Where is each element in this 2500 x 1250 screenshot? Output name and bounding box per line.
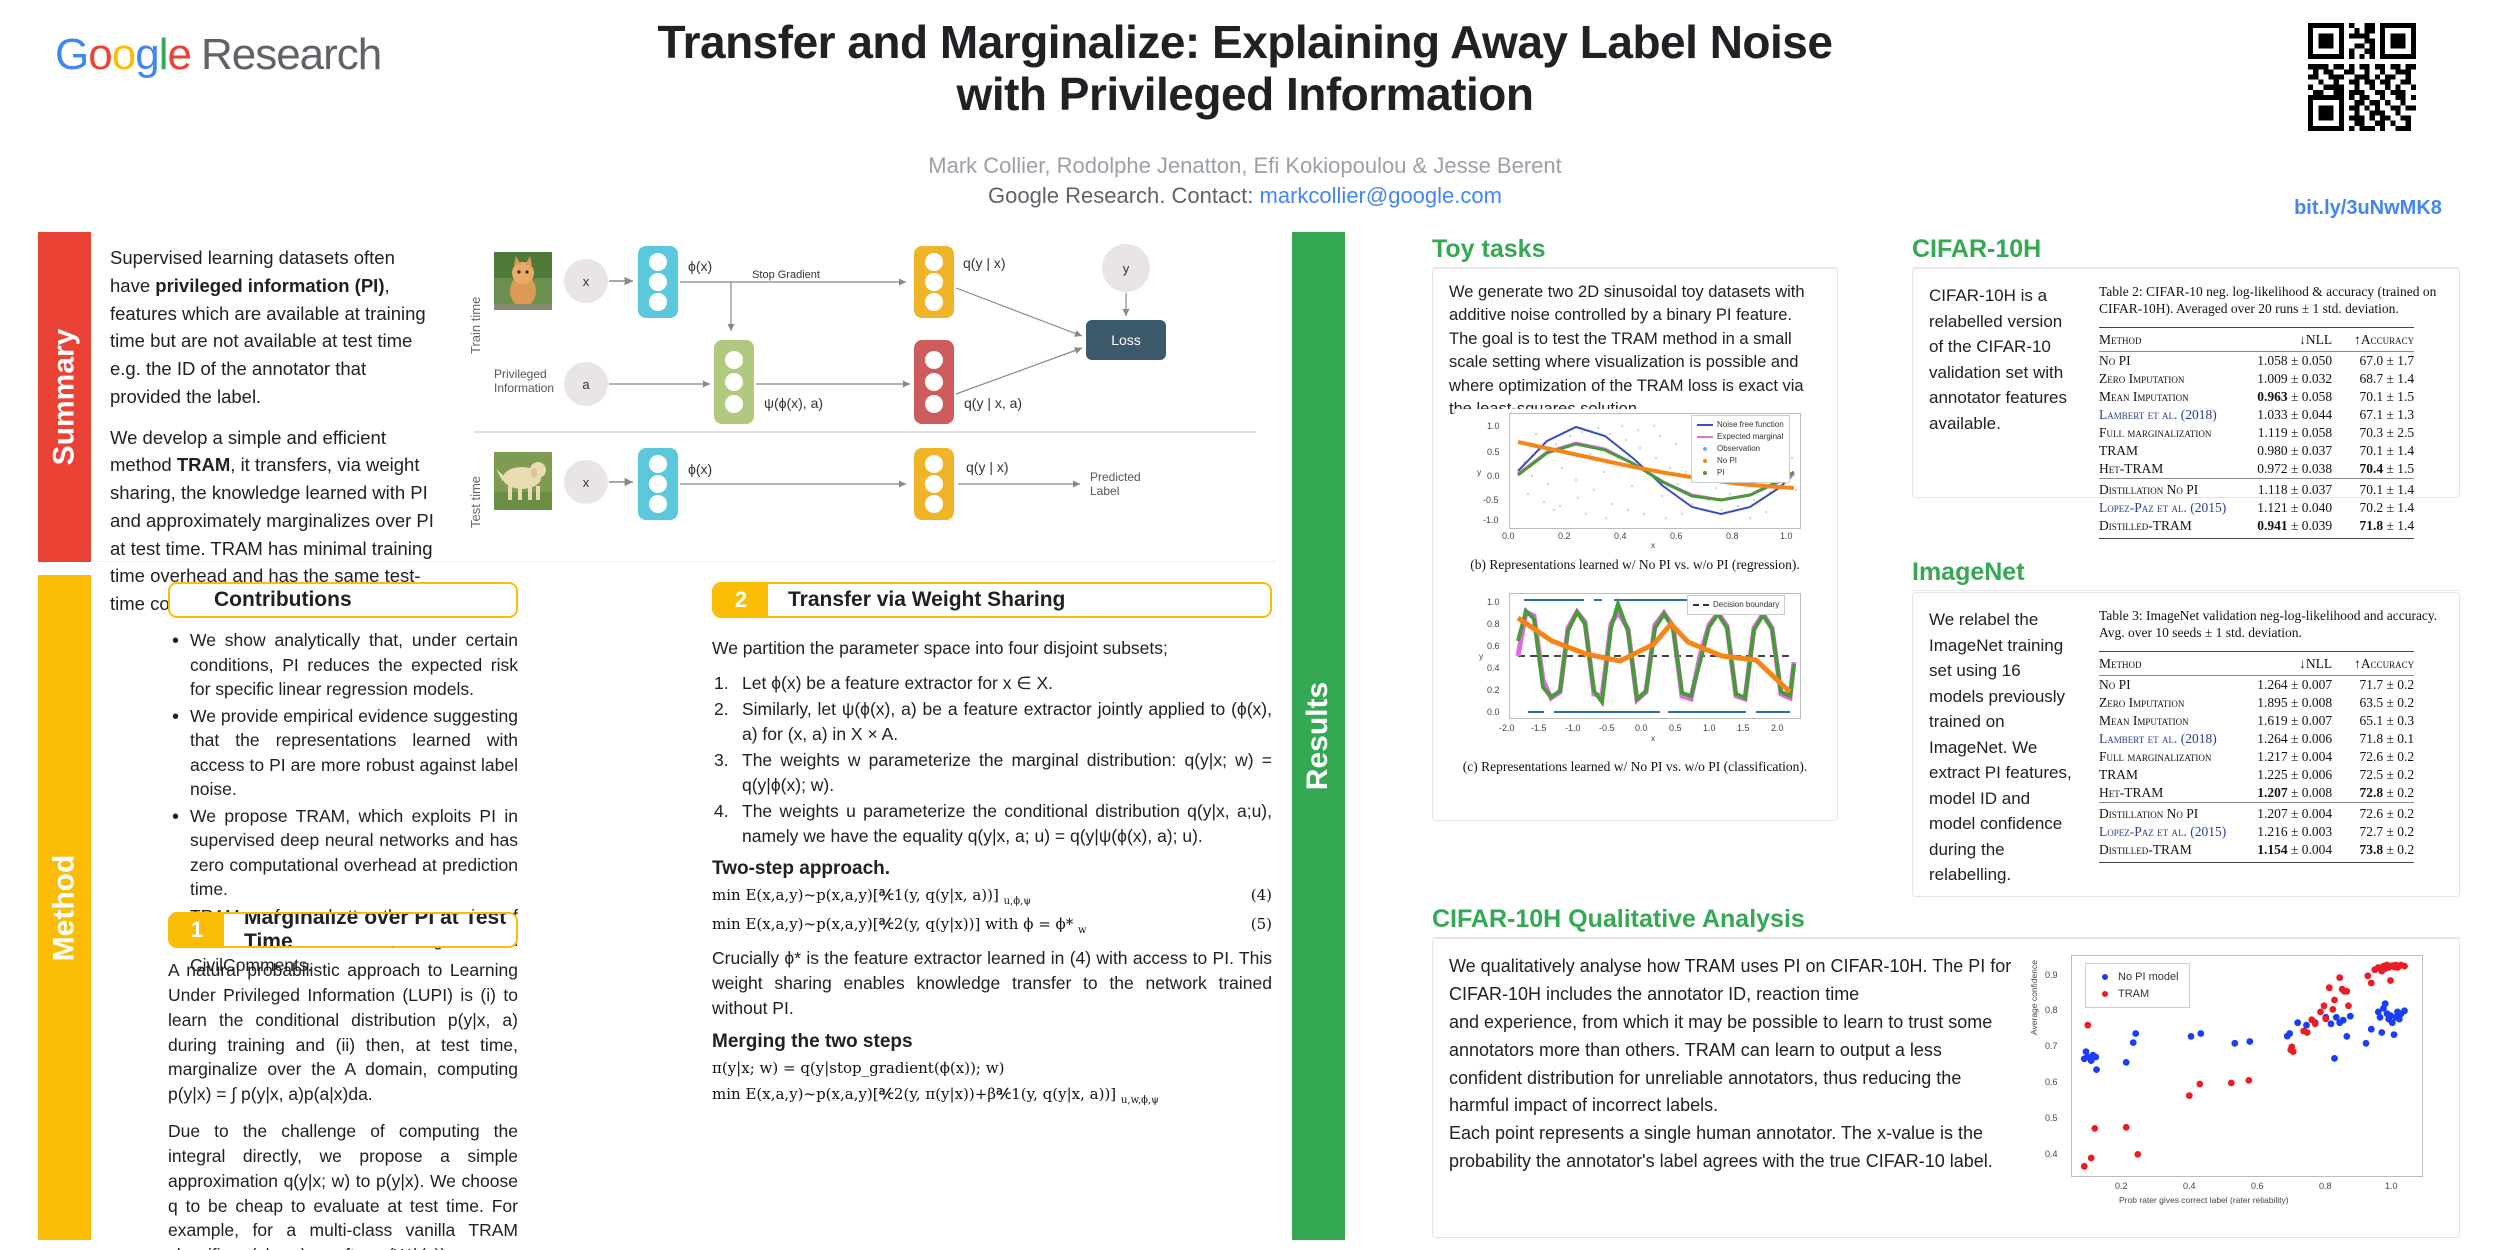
table-cell-nll: 1.225 ± 0.006 [2235,766,2332,784]
table-row: Mean Imputation1.619 ± 0.00765.1 ± 0.3 [2099,712,2414,730]
list-item: Let ϕ(x) be a feature extractor for x ∈ … [712,671,1272,696]
imagenet-section: ImageNet [1912,558,2460,591]
affiliation-contact: Google Research. Contact: markcollier@go… [520,183,1970,209]
table-header-row: Method ↓NLL ↑Accuracy [2099,651,2414,675]
column-header-method: Method [2099,327,2235,351]
toy-tasks-section: Toy tasks [1432,235,1838,268]
table-cell-nll: 1.119 ± 0.058 [2235,424,2332,442]
table-cell-method: TRAM [2099,442,2235,460]
title-line-2: with Privileged Information [957,68,1534,120]
step1-paragraph-1: A natural probabilistic approach to Lear… [168,958,518,1107]
step2-intro: We partition the parameter space into fo… [712,628,1272,661]
toy-classification-caption: (c) Representations learned w/ No PI vs.… [1433,759,1837,775]
weight-sharing-block: 2 Transfer via Weight Sharing We partiti… [712,582,1272,1114]
diagram-qyx-label-test: q(y | x) [966,459,1009,475]
table-cell-nll: 0.972 ± 0.038 [2235,460,2332,479]
table-cell-method: Mean Imputation [2099,388,2235,406]
diagram-test-time-label: Test time [468,476,483,528]
equation-5-body: min E(x,a,y)~p(x,a,y)[℀2(y, q(y|x))] wit… [712,915,1073,933]
table-row: Distilled-TRAM1.154 ± 0.00473.8 ± 0.2 [2099,841,2414,863]
column-header-accuracy: ↑Accuracy [2332,327,2414,351]
diagram-node-x-train: x [583,274,590,289]
table-cell-method: Distillation No PI [2099,478,2235,499]
table-row: Zero Imputation1.009 ± 0.03268.7 ± 1.4 [2099,370,2414,388]
table-cell-method: Lambert et al. (2018) [2099,406,2235,424]
section-rail-method: Method [38,575,91,1240]
logo-research-word: Research [201,30,381,79]
merging-heading: Merging the two steps [712,1031,1272,1053]
table-row: Lopez-Paz et al. (2015)1.121 ± 0.04070.2… [2099,499,2414,517]
diagram-phi-label-train: ϕ(x) [688,258,712,274]
poster-header: GoogleResearch Transfer and Marginalize:… [0,0,2500,222]
table-cell-accuracy: 70.1 ± 1.4 [2332,442,2414,460]
list-item: The weights w parameterize the marginal … [712,748,1272,797]
table-cell-accuracy: 71.7 ± 0.2 [2332,675,2414,694]
toy-classification-plot: 1.0 0.8 0.6 0.4 0.2 0.0 y -2.0 -1.5 -1.0… [1455,589,1817,749]
summary-card: Supervised learning datasets often have … [96,232,1276,562]
table-cell-accuracy: 71.8 ± 0.1 [2332,730,2414,748]
table-cell-nll: 1.154 ± 0.004 [2235,841,2332,863]
table-row: No PI1.058 ± 0.05067.0 ± 1.7 [2099,351,2414,370]
table-cell-method: No PI [2099,351,2235,370]
equation-5-number: (5) [1251,915,1272,933]
cifar10h-table-wrapper: Table 2: CIFAR-10 neg. log-likelihood & … [2099,283,2447,539]
column-header-nll: ↓NLL [2235,327,2332,351]
rail-label-results: Results [1302,682,1336,790]
table-cell-nll: 1.619 ± 0.007 [2235,712,2332,730]
table-row: Lambert et al. (2018)1.264 ± 0.00671.8 ±… [2099,730,2414,748]
affiliation-text: Google Research. Contact: [988,183,1259,208]
table-row: Full marginalization1.119 ± 0.05870.3 ± … [2099,424,2414,442]
table-cell-nll: 0.980 ± 0.037 [2235,442,2332,460]
column-header-nll: ↓NLL [2235,651,2332,675]
logo-letter-o1: o [88,30,111,79]
scatter-legend: No PI model TRAM [2085,963,2190,1008]
table-cell-method: TRAM [2099,766,2235,784]
table-row: Lopez-Paz et al. (2015)1.216 ± 0.00372.7… [2099,823,2414,841]
table-cell-method: Full marginalization [2099,748,2235,766]
step2-header: 2 Transfer via Weight Sharing [712,582,1272,618]
table-cell-accuracy: 72.7 ± 0.2 [2332,823,2414,841]
table-cell-nll: 1.264 ± 0.007 [2235,675,2332,694]
qr-short-link[interactable]: bit.ly/3uNwMK8 [2248,197,2488,220]
table-cell-nll: 1.121 ± 0.040 [2235,499,2332,517]
poster-root: GoogleResearch Transfer and Marginalize:… [0,0,2500,1250]
qr-code[interactable] [2296,23,2428,131]
diagram-psi-label: ψ(ϕ(x), a) [764,395,823,411]
cifar10h-table-body: No PI1.058 ± 0.05067.0 ± 1.7Zero Imputat… [2099,351,2414,538]
crucial-paragraph: Crucially ϕ* is the feature extractor le… [712,946,1272,1021]
table-cell-nll: 0.941 ± 0.039 [2235,517,2332,539]
diagram-loss-label: Loss [1111,332,1141,348]
legend-label-tram: TRAM [2118,986,2149,1003]
step2-heading: Transfer via Weight Sharing [768,584,1270,616]
rail-label-summary: Summary [48,329,82,466]
toy-regression-caption: (b) Representations learned w/ No PI vs.… [1433,557,1837,573]
list-item: The weights u parameterize the condition… [712,799,1272,848]
marginalize-block: 1 Marginalize over PI at Test Time A nat… [168,912,518,1250]
table-cell-nll: 1.033 ± 0.044 [2235,406,2332,424]
page-title: Transfer and Marginalize: Explaining Awa… [520,16,1970,121]
equation-4-subscript: u,ϕ,ψ [1004,896,1031,907]
diagram-qyxa-label: q(y | x, a) [964,395,1022,411]
equation-4-number: (4) [1251,886,1272,904]
table-cell-method: Het-TRAM [2099,784,2235,803]
toy-tasks-text: We generate two 2D sinusoidal toy datase… [1449,281,1823,422]
table-row: Zero Imputation1.895 ± 0.00863.5 ± 0.2 [2099,694,2414,712]
imagenet-table-wrapper: Table 3: ImageNet validation neg-log-lik… [2099,607,2447,863]
summary-text: Supervised learning datasets often have … [110,244,440,631]
step2-numbered-list: Let ϕ(x) be a feature extractor for x ∈ … [712,671,1272,849]
table-cell-nll: 1.207 ± 0.004 [2235,802,2332,823]
table-row: Lambert et al. (2018)1.033 ± 0.04467.1 ±… [2099,406,2414,424]
table-cell-nll: 1.118 ± 0.037 [2235,478,2332,499]
list-item: We propose TRAM, which exploits PI in su… [168,804,518,902]
summary-p1-bold: privileged information (PI) [155,275,384,296]
table-cell-accuracy: 70.2 ± 1.4 [2332,499,2414,517]
qualitative-paragraph-1: We qualitatively analyse how TRAM uses P… [1449,953,2019,1009]
diagram-phi-label-test: ϕ(x) [688,461,712,477]
table-cell-method: Lopez-Paz et al. (2015) [2099,823,2235,841]
step2-number: 2 [714,584,768,616]
qualitative-heading: CIFAR-10H Qualitative Analysis [1432,905,2460,934]
table-cell-nll: 1.216 ± 0.003 [2235,823,2332,841]
table-row: Het-TRAM1.207 ± 0.00872.8 ± 0.2 [2099,784,2414,803]
imagenet-table-caption: Table 3: ImageNet validation neg-log-lik… [2099,607,2447,642]
table-cell-method: Zero Imputation [2099,694,2235,712]
contact-email-link[interactable]: markcollier@google.com [1260,183,1502,208]
table-cell-accuracy: 70.1 ± 1.4 [2332,478,2414,499]
diagram-node-x-test: x [583,475,590,490]
cifar10h-heading: CIFAR-10H [1912,235,2460,264]
two-step-heading: Two-step approach. [712,858,1272,880]
toy-tasks-heading: Toy tasks [1432,235,1838,264]
table-cell-nll: 1.895 ± 0.008 [2235,694,2332,712]
cifar10h-table: Method ↓NLL ↑Accuracy No PI1.058 ± 0.050… [2099,327,2414,539]
qualitative-section: CIFAR-10H Qualitative Analysis [1432,905,2460,938]
table-row: TRAM0.980 ± 0.03770.1 ± 1.4 [2099,442,2414,460]
equation-4-body: min E(x,a,y)~p(x,a,y)[℀1(y, q(y|x, a))] [712,886,999,904]
imagenet-card: We relabel the ImageNet training set usi… [1912,592,2460,897]
legend-label-nopi: No PI model [2118,969,2179,986]
cifar10h-scatter-plot: 0.9 0.8 0.7 0.6 0.5 0.4 Average confiden… [2019,945,2449,1233]
step1-body: A natural probabilistic approach to Lear… [168,958,518,1250]
table-cell-method: Mean Imputation [2099,712,2235,730]
table-cell-method: Het-TRAM [2099,460,2235,479]
diagram-node-a: a [582,377,590,392]
equation-5: (5)min E(x,a,y)~p(x,a,y)[℀2(y, q(y|x))] … [712,915,1272,936]
logo-letter-g1: G [55,30,88,79]
title-line-1: Transfer and Marginalize: Explaining Awa… [658,16,1833,68]
table-cell-method: Distilled-TRAM [2099,841,2235,863]
table-cell-accuracy: 70.1 ± 1.5 [2332,388,2414,406]
table-cell-nll: 0.963 ± 0.058 [2235,388,2332,406]
toy-tasks-card: We generate two 2D sinusoidal toy datase… [1432,268,1838,821]
table-cell-nll: 1.207 ± 0.008 [2235,784,2332,803]
table-header-row: Method ↓NLL ↑Accuracy [2099,327,2414,351]
list-item: We show analytically that, under certain… [168,628,518,702]
table-cell-nll: 1.217 ± 0.004 [2235,748,2332,766]
toy-classification-legend: Decision boundary [1687,595,1785,615]
table-cell-accuracy: 67.0 ± 1.7 [2332,351,2414,370]
table-row: Het-TRAM0.972 ± 0.03870.4 ± 1.5 [2099,460,2414,479]
table-cell-nll: 1.009 ± 0.032 [2235,370,2332,388]
diagram-train-image-cat [494,252,552,310]
author-list: Mark Collier, Rodolphe Jenatton, Efi Kok… [520,153,1970,179]
table-cell-accuracy: 72.5 ± 0.2 [2332,766,2414,784]
summary-paragraph-1: Supervised learning datasets often have … [110,244,440,411]
step1-header: 1 Marginalize over PI at Test Time [168,912,518,948]
section-rail-summary: Summary [38,232,91,562]
table-cell-nll: 1.058 ± 0.050 [2235,351,2332,370]
table-cell-method: No PI [2099,675,2235,694]
table-row: TRAM1.225 ± 0.00672.5 ± 0.2 [2099,766,2414,784]
cifar10h-section: CIFAR-10H [1912,235,2460,268]
imagenet-table-body: No PI1.264 ± 0.00771.7 ± 0.2Zero Imputat… [2099,675,2414,862]
summary-p2-bold: TRAM [177,454,230,475]
table-cell-method: Lopez-Paz et al. (2015) [2099,499,2235,517]
diagram-qyx-label-train: q(y | x) [963,255,1006,271]
table-cell-accuracy: 67.1 ± 1.3 [2332,406,2414,424]
table-row: Distilled-TRAM0.941 ± 0.03971.8 ± 1.4 [2099,517,2414,539]
logo-letter-g2: g [135,30,158,79]
tram-architecture-diagram: Train time Test time x ϕ(x) [466,236,1266,554]
diagram-pi-label-line1: Privileged [494,367,547,381]
table-row: Mean Imputation0.963 ± 0.05870.1 ± 1.5 [2099,388,2414,406]
qualitative-paragraph-2: and experience, from which it may be pos… [1449,1009,2019,1121]
list-item: Similarly, let ψ(ϕ(x), a) be a feature e… [712,697,1272,746]
toy-regression-plot: 1.0 0.5 0.0 -0.5 -1.0 y 0.0 0.2 0.4 0.6 … [1455,409,1817,549]
table-cell-accuracy: 71.8 ± 1.4 [2332,517,2414,539]
diagram-predicted-label-line1: Predicted [1090,470,1141,484]
table-cell-method: Distilled-TRAM [2099,517,2235,539]
table-cell-method: Lambert et al. (2018) [2099,730,2235,748]
table-cell-accuracy: 63.5 ± 0.2 [2332,694,2414,712]
imagenet-table: Method ↓NLL ↑Accuracy No PI1.264 ± 0.007… [2099,651,2414,863]
diagram-test-image-dog [494,452,552,510]
qualitative-text: We qualitatively analyse how TRAM uses P… [1449,953,2019,1176]
equation-4: (4)min E(x,a,y)~p(x,a,y)[℀1(y, q(y|x, a)… [712,886,1272,907]
cifar10h-card: CIFAR-10H is a relabelled version of the… [1912,268,2460,498]
equation-7: min E(x,a,y)~p(x,a,y)[℀2(y, π(y|x))+β℀1(… [712,1085,1272,1106]
imagenet-text: We relabel the ImageNet training set usi… [1929,607,2079,888]
toy-regression-legend: Noise free function Expected marginal Ob… [1691,415,1790,483]
table-cell-accuracy: 72.6 ± 0.2 [2332,748,2414,766]
google-research-logo: GoogleResearch [55,30,381,80]
column-header-accuracy: ↑Accuracy [2332,651,2414,675]
imagenet-heading-rule [1912,590,2460,591]
logo-letter-o2: o [112,30,135,79]
contributions-heading: Contributions [170,584,516,616]
logo-letter-e: e [167,30,190,79]
table-cell-method: Full marginalization [2099,424,2235,442]
table-row: Distillation No PI1.118 ± 0.03770.1 ± 1.… [2099,478,2414,499]
table-row: Full marginalization1.217 ± 0.00472.6 ± … [2099,748,2414,766]
table-cell-accuracy: 72.6 ± 0.2 [2332,802,2414,823]
equation-7-body: min E(x,a,y)~p(x,a,y)[℀2(y, π(y|x))+β℀1(… [712,1085,1116,1103]
equation-6: π(y|x; w) = q(y|stop_gradient(ϕ(x)); w) [712,1059,1272,1077]
table-row: No PI1.264 ± 0.00771.7 ± 0.2 [2099,675,2414,694]
table-cell-method: Zero Imputation [2099,370,2235,388]
diagram-stop-gradient-label: Stop Gradient [752,269,820,281]
table-cell-accuracy: 70.3 ± 2.5 [2332,424,2414,442]
table-row: Distillation No PI1.207 ± 0.00472.6 ± 0.… [2099,802,2414,823]
step1-number: 1 [170,914,224,946]
qualitative-card: We qualitatively analyse how TRAM uses P… [1432,938,2460,1238]
contributions-header: Contributions [168,582,518,618]
table-cell-accuracy: 68.7 ± 1.4 [2332,370,2414,388]
table-cell-accuracy: 72.8 ± 0.2 [2332,784,2414,803]
rail-label-method: Method [48,854,82,961]
diagram-predicted-label-line2: Label [1090,484,1119,498]
list-item: We provide empirical evidence suggesting… [168,704,518,802]
section-rail-results: Results [1292,232,1345,1240]
imagenet-heading: ImageNet [1912,558,2460,587]
table-cell-accuracy: 65.1 ± 0.3 [2332,712,2414,730]
table-cell-method: Distillation No PI [2099,802,2235,823]
diagram-train-time-label: Train time [468,297,483,354]
step1-heading: Marginalize over PI at Test Time [224,914,516,946]
cifar10h-table-caption: Table 2: CIFAR-10 neg. log-likelihood & … [2099,283,2447,318]
diagram-pi-label-line2: Information [494,381,554,395]
cifar10h-text: CIFAR-10H is a relabelled version of the… [1929,283,2079,436]
table-cell-nll: 1.264 ± 0.006 [2235,730,2332,748]
qualitative-paragraph-3: Each point represents a single human ann… [1449,1120,2019,1176]
step1-paragraph-2: Due to the challenge of computing the in… [168,1119,518,1250]
diagram-node-y: y [1123,261,1130,276]
column-header-method: Method [2099,651,2235,675]
equation-5-subscript: w [1078,925,1087,936]
table-cell-accuracy: 73.8 ± 0.2 [2332,841,2414,863]
equation-7-subscript: u,w,ϕ,ψ [1121,1095,1159,1106]
table-cell-accuracy: 70.4 ± 1.5 [2332,460,2414,479]
